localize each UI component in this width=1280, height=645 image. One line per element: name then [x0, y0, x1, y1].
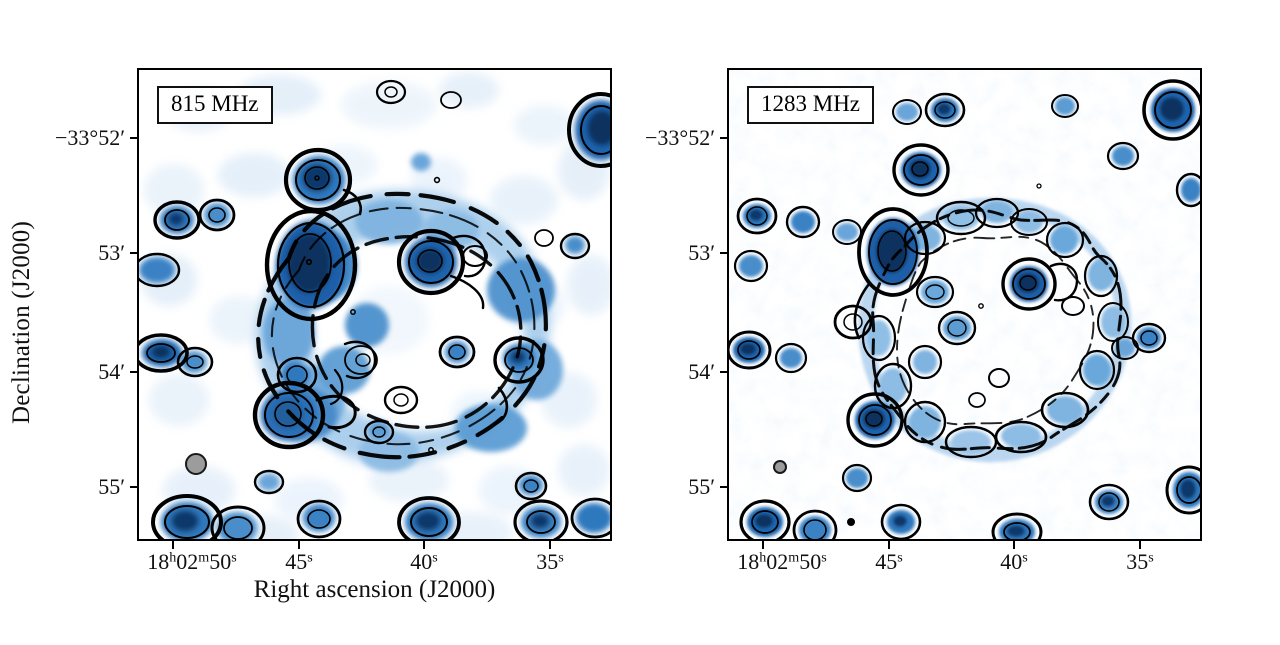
tick-ra-right-0 — [762, 540, 764, 549]
radio-continuum-figure: Declination (J2000) Right ascension (J20… — [0, 0, 1280, 645]
dec-label-right-2: 54′ — [645, 359, 715, 385]
ra-label-left-3-text: 35s — [536, 549, 563, 574]
dec-label-right-3: 55′ — [645, 474, 715, 500]
ra-label-right-0-text: 18h02m50s — [737, 549, 826, 574]
tick-ra-left-0 — [172, 540, 174, 549]
ra-label-right-3-text: 35s — [1126, 549, 1153, 574]
ra-label-right-2: 40s — [1000, 549, 1027, 575]
tick-dec-right-3 — [720, 486, 729, 488]
panel-815mhz[interactable]: 815 MHz — [137, 68, 612, 541]
ra-label-right-1-text: 45s — [875, 549, 902, 574]
tick-dec-left-0 — [130, 137, 139, 139]
tick-dec-right-1 — [720, 252, 729, 254]
ra-label-right-0: 18h02m50s — [737, 549, 826, 575]
panel-1283mhz[interactable]: 1283 MHz — [727, 68, 1202, 541]
tick-dec-left-2 — [130, 371, 139, 373]
ra-label-left-2-text: 40s — [410, 549, 437, 574]
tick-dec-left-3 — [130, 486, 139, 488]
dec-label-left-2: 54′ — [55, 359, 125, 385]
ra-label-left-0: 18h02m50s — [147, 549, 236, 575]
tick-ra-left-3 — [549, 540, 551, 549]
frequency-label-1283mhz: 1283 MHz — [747, 86, 874, 124]
tick-ra-left-1 — [298, 540, 300, 549]
tick-dec-right-2 — [720, 371, 729, 373]
beam-marker-1283mhz — [773, 460, 787, 474]
tick-ra-right-3 — [1139, 540, 1141, 549]
sky-image-815mhz — [139, 70, 610, 539]
tick-ra-right-1 — [888, 540, 890, 549]
tick-ra-left-2 — [423, 540, 425, 549]
ra-label-left-3: 35s — [536, 549, 563, 575]
ra-label-right-1: 45s — [875, 549, 902, 575]
ra-label-left-1-text: 45s — [285, 549, 312, 574]
ra-label-left-2: 40s — [410, 549, 437, 575]
tick-ra-right-2 — [1013, 540, 1015, 549]
frequency-label-815mhz: 815 MHz — [157, 86, 273, 124]
sky-image-1283mhz — [729, 70, 1200, 539]
x-axis-title: Right ascension (J2000) — [137, 576, 612, 604]
dec-label-left-0: −33°52′ — [55, 125, 125, 151]
ra-label-left-1: 45s — [285, 549, 312, 575]
ra-label-left-0-text: 18h02m50s — [147, 549, 236, 574]
dec-label-right-0: −33°52′ — [645, 125, 715, 151]
dec-label-left-3: 55′ — [55, 474, 125, 500]
beam-marker-815mhz — [185, 453, 207, 475]
ra-label-right-3: 35s — [1126, 549, 1153, 575]
dec-label-right-1: 53′ — [645, 240, 715, 266]
dec-label-left-1: 53′ — [55, 240, 125, 266]
y-axis-title: Declination (J2000) — [0, 0, 44, 645]
tick-dec-left-1 — [130, 252, 139, 254]
tick-dec-right-0 — [720, 137, 729, 139]
ra-label-right-2-text: 40s — [1000, 549, 1027, 574]
